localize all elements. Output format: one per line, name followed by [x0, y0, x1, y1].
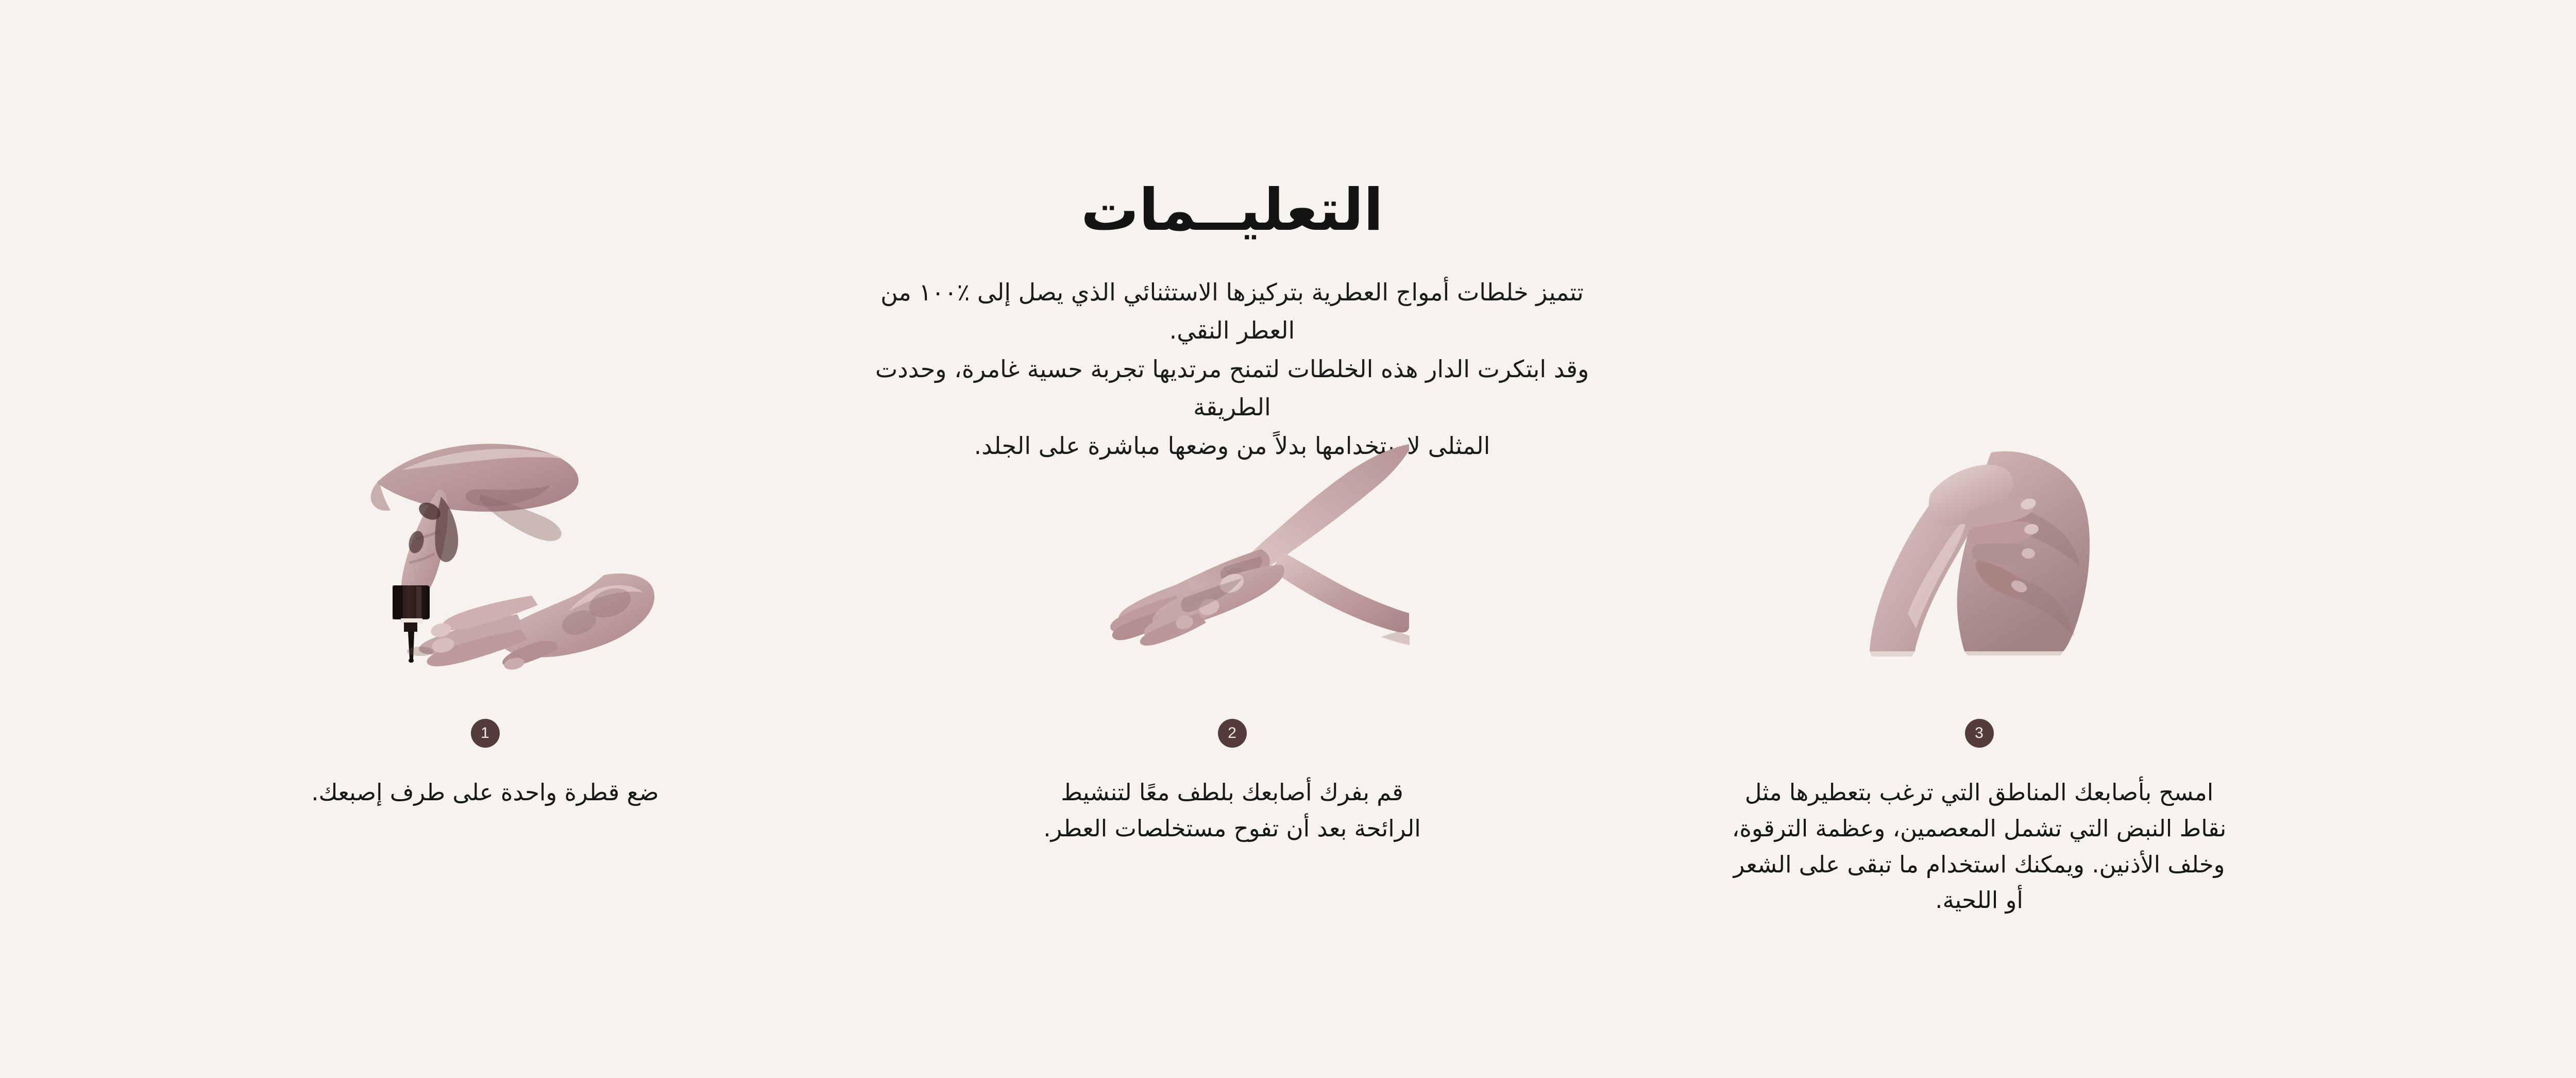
step-caption-3: امسح بأصابعك المناطق التي ترغب بتعطيرها … [1732, 774, 2227, 918]
intro-line-1: تتميز خلطات أمواج العطرية بتركيزها الاست… [856, 273, 1608, 350]
step-caption-1: ضع قطرة واحدة على طرف إصبعك. [290, 774, 681, 811]
step-card-2: 2 قم بفرك أصابعك بلطف معًا لتنشيط الرائح… [859, 397, 1606, 847]
instructions-page: التعليــمات تتميز خلطات أمواج العطرية بت… [0, 0, 2576, 1078]
steps-row: 3 امسح بأصابعك المناطق التي ترغب بتعطيره… [0, 397, 2576, 918]
step-number-badge-2: 2 [1218, 719, 1247, 748]
step-card-1: 1 ضع قطرة واحدة على طرف إصبعك. [112, 397, 859, 811]
step-caption-2: قم بفرك أصابعك بلطف معًا لتنشيط الرائحة … [1031, 774, 1433, 847]
step-3-illustration-wrap [1606, 397, 2353, 706]
page-title: التعليــمات [0, 180, 2576, 241]
hand-with-dropper-applying-drop-illustration [315, 433, 655, 670]
step-1-illustration-wrap [112, 397, 859, 706]
two-hands-rubbing-fingers-illustration [1055, 443, 1410, 660]
step-card-3: 3 امسح بأصابعك المناطق التي ترغب بتعطيره… [1606, 397, 2353, 918]
step-2-illustration-wrap [859, 397, 1606, 706]
step-number-badge-1: 1 [471, 719, 500, 748]
step-number-badge-3: 3 [1965, 719, 1994, 748]
hand-applying-to-neck-illustration [1858, 443, 2100, 660]
